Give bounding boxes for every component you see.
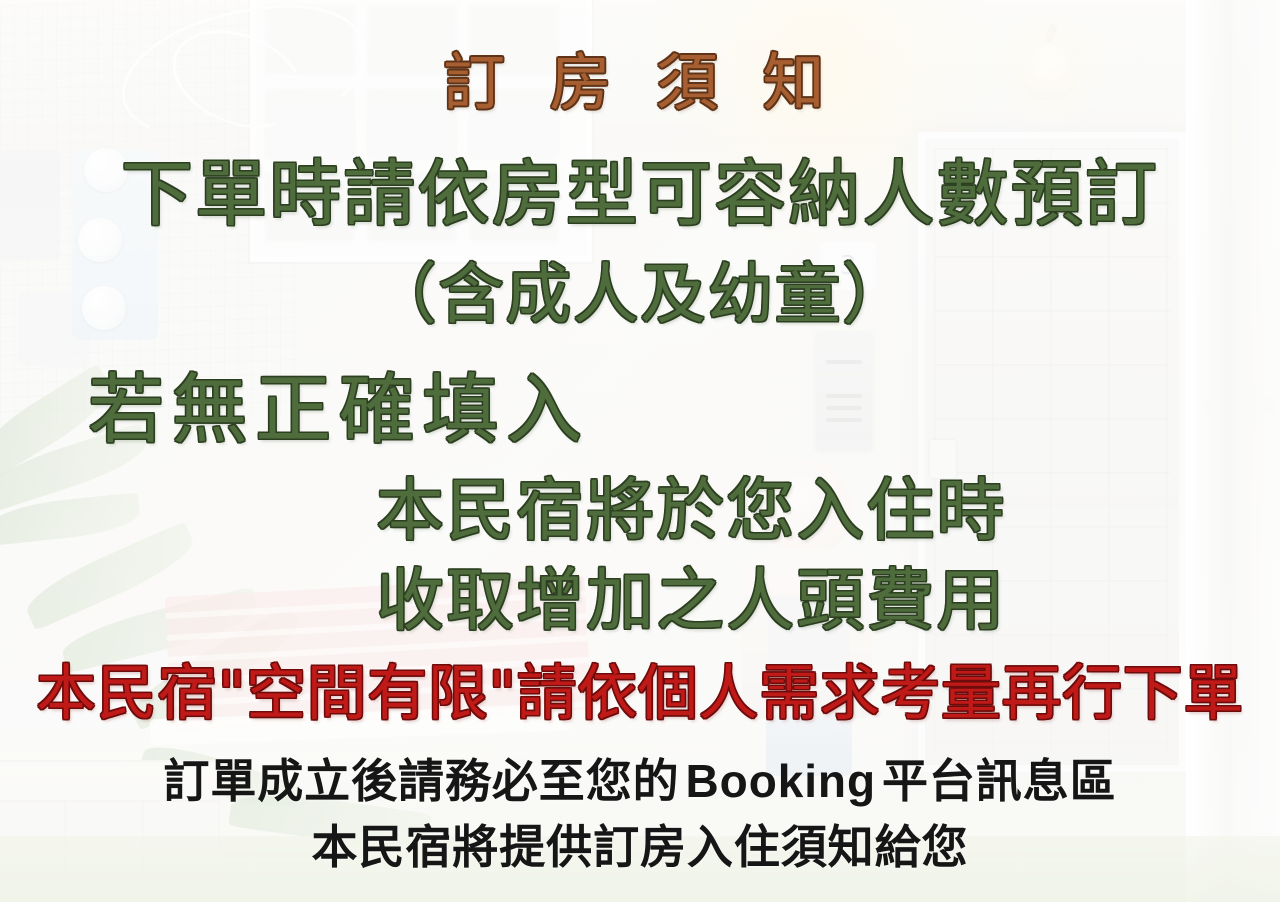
notice-line-1: 下單時請依房型可容納人數預訂 <box>0 158 1280 230</box>
notice-line-5: 收取增加之人頭費用 <box>376 568 1006 636</box>
poster-image: 3 訂 房 須 <box>0 0 1280 902</box>
footer-line-2: 本民宿將提供訂房入住須知給您 <box>0 824 1280 870</box>
warning-line: 本民宿"空間有限"請依個人需求考量再行下單 <box>0 664 1280 724</box>
poster-text: 訂 房 須 知 下單時請依房型可容納人數預訂 （含成人及幼童） 若無正確填入 本… <box>0 0 1280 902</box>
footer-line-1-suffix: 平台訊息區 <box>882 754 1117 808</box>
notice-line-4: 本民宿將於您入住時 <box>376 478 1006 546</box>
notice-line-3: 若無正確填入 <box>88 372 590 448</box>
footer-line-1-prefix: 訂單成立後請務必至您的 <box>163 754 679 808</box>
notice-line-2: （含成人及幼童） <box>0 262 1280 328</box>
footer-line-1: 訂單成立後請務必至您的Booking平台訊息區 <box>0 758 1280 804</box>
booking-brand-label: Booking <box>680 755 882 807</box>
poster-title: 訂 房 須 知 <box>0 52 1280 114</box>
